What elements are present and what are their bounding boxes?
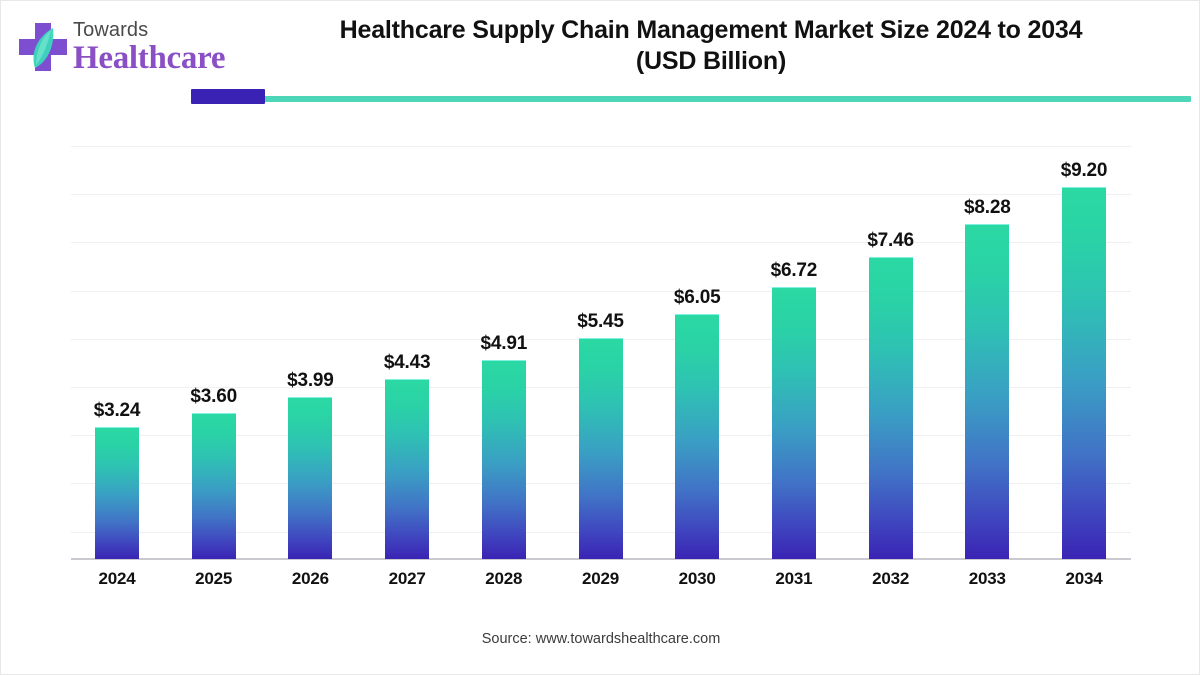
chart-title-line-1: Healthcare Supply Chain Management Marke… bbox=[340, 16, 1083, 44]
bar-value-label: $6.05 bbox=[637, 287, 757, 309]
header-divider-line bbox=[191, 96, 1191, 102]
bar bbox=[385, 379, 429, 559]
category-label: 2034 bbox=[1024, 569, 1144, 589]
bar-value-label: $9.20 bbox=[1024, 160, 1144, 182]
source-caption: Source: www.towardshealthcare.com bbox=[1, 631, 1200, 647]
bar-value-label: $4.91 bbox=[444, 333, 564, 355]
bar bbox=[1062, 187, 1106, 559]
medical-cross-leaf-icon bbox=[15, 19, 71, 75]
bar-value-label: $5.45 bbox=[541, 311, 661, 333]
bar bbox=[95, 427, 139, 559]
chart-title-wrap: Healthcare Supply Chain Management Marke… bbox=[251, 15, 1171, 77]
bar-value-label: $6.72 bbox=[734, 260, 854, 282]
bar-value-label: $8.28 bbox=[927, 197, 1047, 219]
bar bbox=[869, 257, 913, 559]
brand-name-top: Towards bbox=[73, 19, 245, 41]
bar bbox=[579, 338, 623, 559]
bar bbox=[772, 287, 816, 559]
bar bbox=[288, 397, 332, 559]
gridline bbox=[71, 146, 1131, 147]
bar bbox=[965, 224, 1009, 559]
brand-wordmark: Towards Healthcare bbox=[73, 19, 245, 75]
chart-page: Towards Healthcare Healthcare Supply Cha… bbox=[0, 0, 1200, 675]
bar bbox=[675, 314, 719, 559]
chart-title: Healthcare Supply Chain Management Marke… bbox=[251, 15, 1171, 77]
chart-title-line-2: (USD Billion) bbox=[636, 47, 786, 75]
brand-logo: Towards Healthcare bbox=[15, 13, 245, 91]
chart-header: Towards Healthcare Healthcare Supply Cha… bbox=[1, 1, 1200, 111]
brand-name-bottom: Healthcare bbox=[73, 41, 245, 75]
bar-value-label: $7.46 bbox=[831, 230, 951, 252]
header-divider-accent bbox=[191, 89, 265, 104]
bar-value-label: $4.43 bbox=[347, 352, 467, 374]
bar bbox=[482, 360, 526, 559]
gridline bbox=[71, 194, 1131, 195]
bar bbox=[192, 413, 236, 559]
